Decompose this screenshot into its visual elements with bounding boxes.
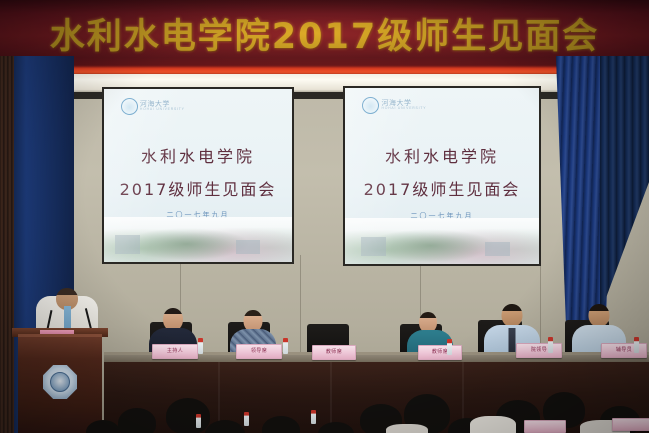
- name-card: 领导席: [236, 344, 282, 359]
- wall-seam: [300, 255, 301, 365]
- water-bottle: [634, 337, 639, 353]
- name-card: [524, 420, 566, 433]
- panelist-head: [502, 304, 523, 327]
- water-bottle: [548, 337, 553, 353]
- event-banner: 水利水电学院2017级师生见面会: [0, 0, 649, 74]
- name-card: 教师席: [418, 345, 462, 360]
- left-wall-strip: [0, 56, 14, 433]
- slide-title-line1: 水利水电学院: [104, 143, 292, 167]
- university-logo: 河海大学 HOHAI UNIVERSITY: [121, 98, 207, 124]
- audience-head: [166, 398, 210, 433]
- photo-scene: 水利水电学院2017级师生见面会 河海大学 HOHAI UNIVERSITY 水…: [0, 0, 649, 433]
- slide-title-line2: 2017级师生见面会: [345, 176, 539, 200]
- speaker-podium: [18, 334, 102, 433]
- water-bottle: [244, 412, 249, 426]
- logo-glyph-icon: [121, 98, 138, 115]
- slide-title-line1: 水利水电学院: [345, 143, 539, 167]
- university-crest-icon: [43, 365, 77, 399]
- logo-glyph-icon: [362, 97, 379, 114]
- slide-campus-photo: [345, 218, 539, 264]
- water-bottle: [447, 339, 452, 355]
- logo-subtitle: HOHAI UNIVERSITY: [140, 107, 185, 111]
- water-bottle: [283, 338, 288, 354]
- slide-title-line2: 2017级师生见面会: [104, 176, 292, 200]
- name-card: 教师席: [312, 345, 356, 360]
- slide-campus-photo: [104, 217, 292, 262]
- audience-head: [118, 408, 156, 433]
- water-bottle: [311, 410, 316, 424]
- right-projection-screen: 河海大学 HOHAI UNIVERSITY 水利水电学院 2017级师生见面会 …: [345, 88, 539, 264]
- audience-shoulders: [470, 416, 516, 433]
- banner-title: 水利水电学院2017级师生见面会: [0, 8, 649, 59]
- audience-shoulders: [386, 424, 428, 433]
- wall-light-strip: [0, 72, 649, 94]
- panelist-head: [589, 304, 610, 327]
- logo-subtitle: HOHAI UNIVERSITY: [381, 106, 426, 110]
- name-card: [612, 418, 649, 431]
- wall-trim-band: [0, 92, 649, 99]
- name-card: 院领导: [516, 343, 562, 358]
- name-card: 辅导员: [601, 343, 647, 358]
- university-logo: 河海大学 HOHAI UNIVERSITY: [362, 97, 451, 123]
- name-card: 主持人: [152, 344, 198, 359]
- water-bottle: [198, 338, 203, 354]
- left-projection-screen: 河海大学 HOHAI UNIVERSITY 水利水电学院 2017级师生见面会 …: [104, 89, 292, 262]
- water-bottle: [196, 414, 201, 428]
